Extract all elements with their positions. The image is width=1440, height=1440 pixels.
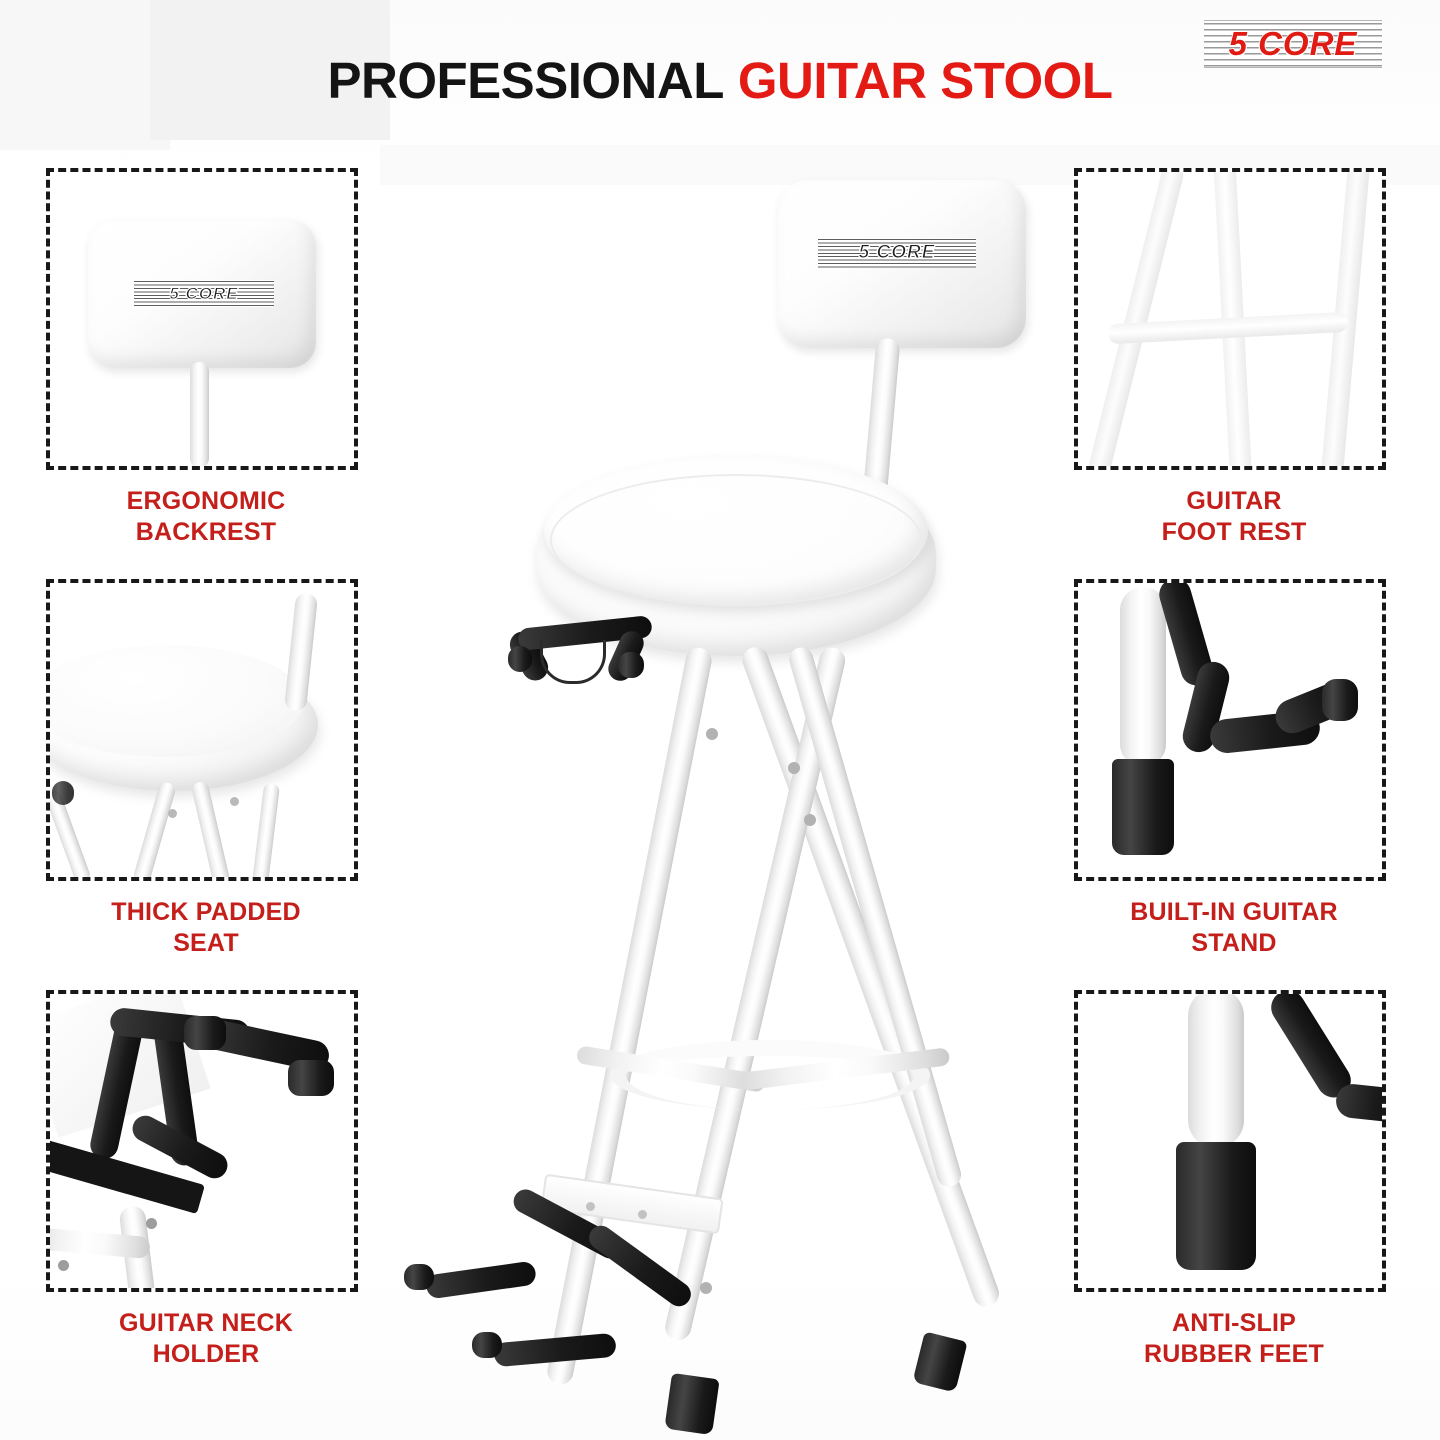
callout-image-frame xyxy=(1074,990,1386,1292)
callout-guitar-foot-rest[interactable]: GUITAR FOOT REST xyxy=(1074,168,1394,547)
anti-slip-rubber-feet-icon xyxy=(1078,994,1382,1288)
callout-image-frame xyxy=(1074,168,1386,470)
product-guitar-stand-arm-front-tip xyxy=(472,1332,502,1358)
callout-anti-slip-rubber-feet[interactable]: ANTI-SLIP RUBBER FEET xyxy=(1074,990,1394,1369)
callout-image-frame xyxy=(46,990,358,1292)
callout-label: ERGONOMIC BACKREST xyxy=(46,486,366,547)
callout-thick-padded-seat[interactable]: THICK PADDED SEAT xyxy=(46,579,366,958)
product-guitar-stand-arm-back-2 xyxy=(425,1260,537,1299)
callout-label: GUITAR NECK HOLDER xyxy=(46,1308,366,1369)
page-title-primary: PROFESSIONAL xyxy=(328,52,724,109)
product-rivet xyxy=(700,1282,712,1294)
guitar-foot-rest-icon xyxy=(1078,172,1382,466)
product-leg-front-right xyxy=(739,644,1003,1311)
product-backrest-logo: 5 CORE xyxy=(818,238,976,268)
callout-ergonomic-backrest[interactable]: 5 CORE ERGONOMIC BACKREST xyxy=(46,168,366,547)
guitar-neck-holder-icon xyxy=(50,994,354,1288)
product-rubber-foot-front xyxy=(664,1373,719,1435)
product-neck-holder-wire xyxy=(540,640,606,684)
page-title-accent: GUITAR STOOL xyxy=(738,52,1113,109)
product-neck-holder-right-tip xyxy=(618,652,644,678)
callout-guitar-neck-holder[interactable]: GUITAR NECK HOLDER xyxy=(46,990,366,1369)
product-seat-seam xyxy=(550,474,922,606)
backrest-logo-text: 5 CORE xyxy=(169,284,238,304)
product-rubber-foot-right xyxy=(912,1331,967,1392)
product-bracket-hole xyxy=(586,1202,595,1211)
callout-image-frame xyxy=(46,579,358,881)
product-bracket-hole xyxy=(638,1210,647,1219)
padded-seat-icon xyxy=(50,583,354,877)
built-in-guitar-stand-icon xyxy=(1078,583,1382,877)
product-hero-image: 5 CORE xyxy=(390,160,1050,1430)
callout-label: ANTI-SLIP RUBBER FEET xyxy=(1074,1308,1394,1369)
product-neck-holder-left-tip xyxy=(508,646,532,672)
callout-label: BUILT-IN GUITAR STAND xyxy=(1074,897,1394,958)
product-rivet xyxy=(706,728,718,740)
callout-label: THICK PADDED SEAT xyxy=(46,897,366,958)
product-rivet xyxy=(804,814,816,826)
product-rivet xyxy=(788,762,800,774)
callout-image-frame xyxy=(1074,579,1386,881)
callout-built-in-guitar-stand[interactable]: BUILT-IN GUITAR STAND xyxy=(1074,579,1394,958)
callout-column-left: 5 CORE ERGONOMIC BACKREST THICK PADDED xyxy=(46,168,366,1401)
callout-column-right: GUITAR FOOT REST BUILT-IN GUITAR STAND xyxy=(1074,168,1394,1401)
callout-image-frame: 5 CORE xyxy=(46,168,358,470)
product-guitar-stand-arm-back-tip xyxy=(404,1264,434,1290)
callout-label: GUITAR FOOT REST xyxy=(1074,486,1394,547)
brand-logo: 5 CORE xyxy=(1204,20,1382,68)
product-backrest-logo-text: 5 CORE xyxy=(859,242,936,264)
backrest-icon: 5 CORE xyxy=(50,172,354,466)
brand-logo-text: 5 CORE xyxy=(1204,20,1382,68)
